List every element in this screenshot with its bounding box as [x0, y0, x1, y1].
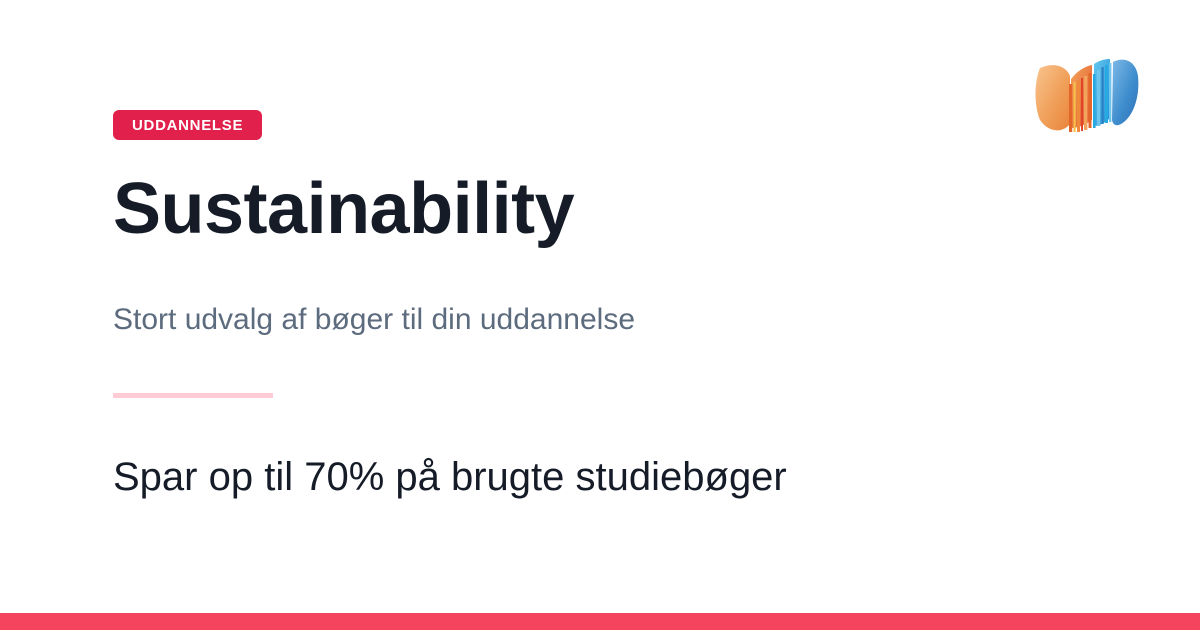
bottom-accent-bar	[0, 613, 1200, 630]
brand-logo	[1030, 48, 1145, 153]
divider	[113, 393, 273, 398]
promo-banner: UDDANNELSE Sustainability Stort udvalg a…	[0, 0, 1200, 630]
page-subtitle: Stort udvalg af bøger til din uddannelse	[113, 302, 635, 338]
banner-content: UDDANNELSE Sustainability Stort udvalg a…	[113, 0, 1013, 630]
page-title: Sustainability	[113, 172, 574, 248]
logo-mark	[1036, 59, 1139, 132]
promo-message: Spar op til 70% på brugte studiebøger	[113, 452, 787, 502]
category-badge: UDDANNELSE	[113, 110, 262, 140]
